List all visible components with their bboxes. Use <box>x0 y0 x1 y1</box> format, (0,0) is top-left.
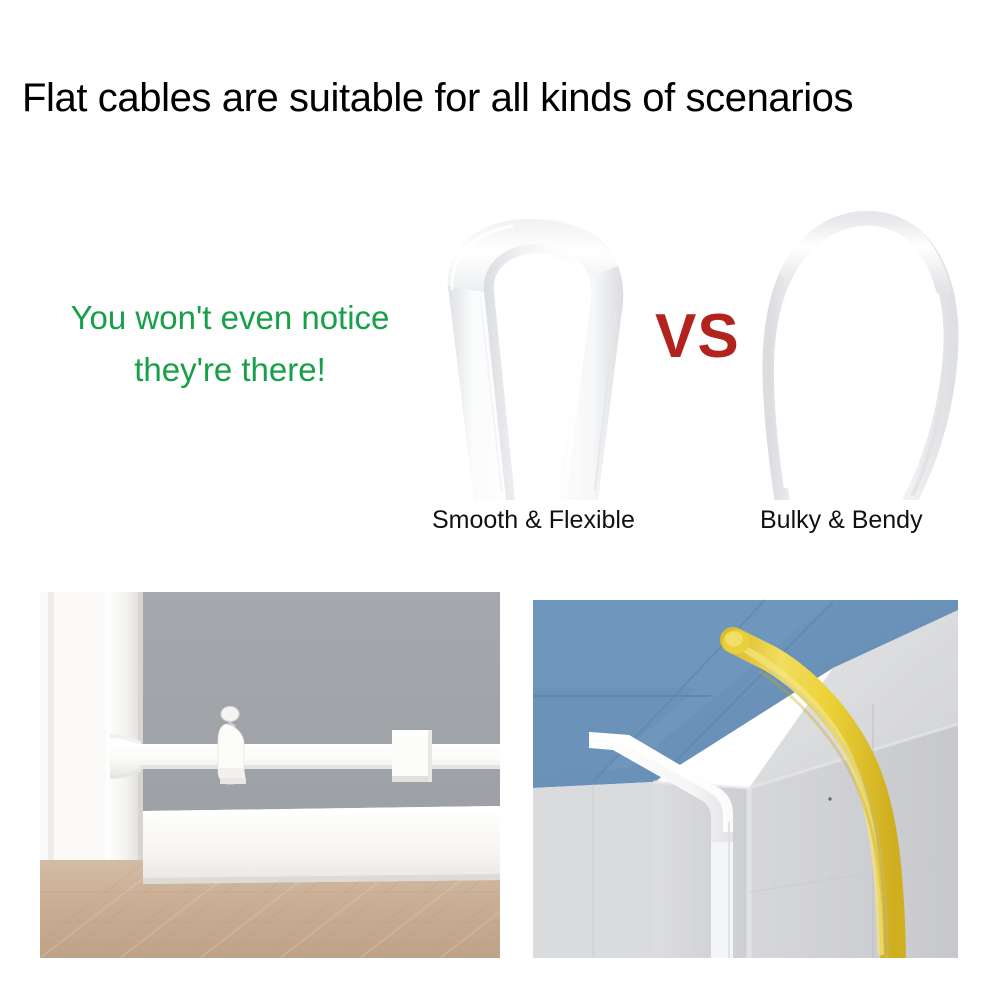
caption-round-cable: Bulky & Bendy <box>760 506 923 535</box>
product-comparison-stage <box>0 180 1000 510</box>
flat-cable-along-wall-photo <box>40 592 500 958</box>
caption-flat-cable: Smooth & Flexible <box>432 506 635 535</box>
page-title: Flat cables are suitable for all kinds o… <box>22 74 1000 122</box>
versus-label: VS <box>655 306 740 368</box>
flat-cable-loop-graphic <box>440 200 650 500</box>
corner-comparison-render <box>533 592 958 958</box>
round-cable-loop-graphic <box>760 190 1000 500</box>
